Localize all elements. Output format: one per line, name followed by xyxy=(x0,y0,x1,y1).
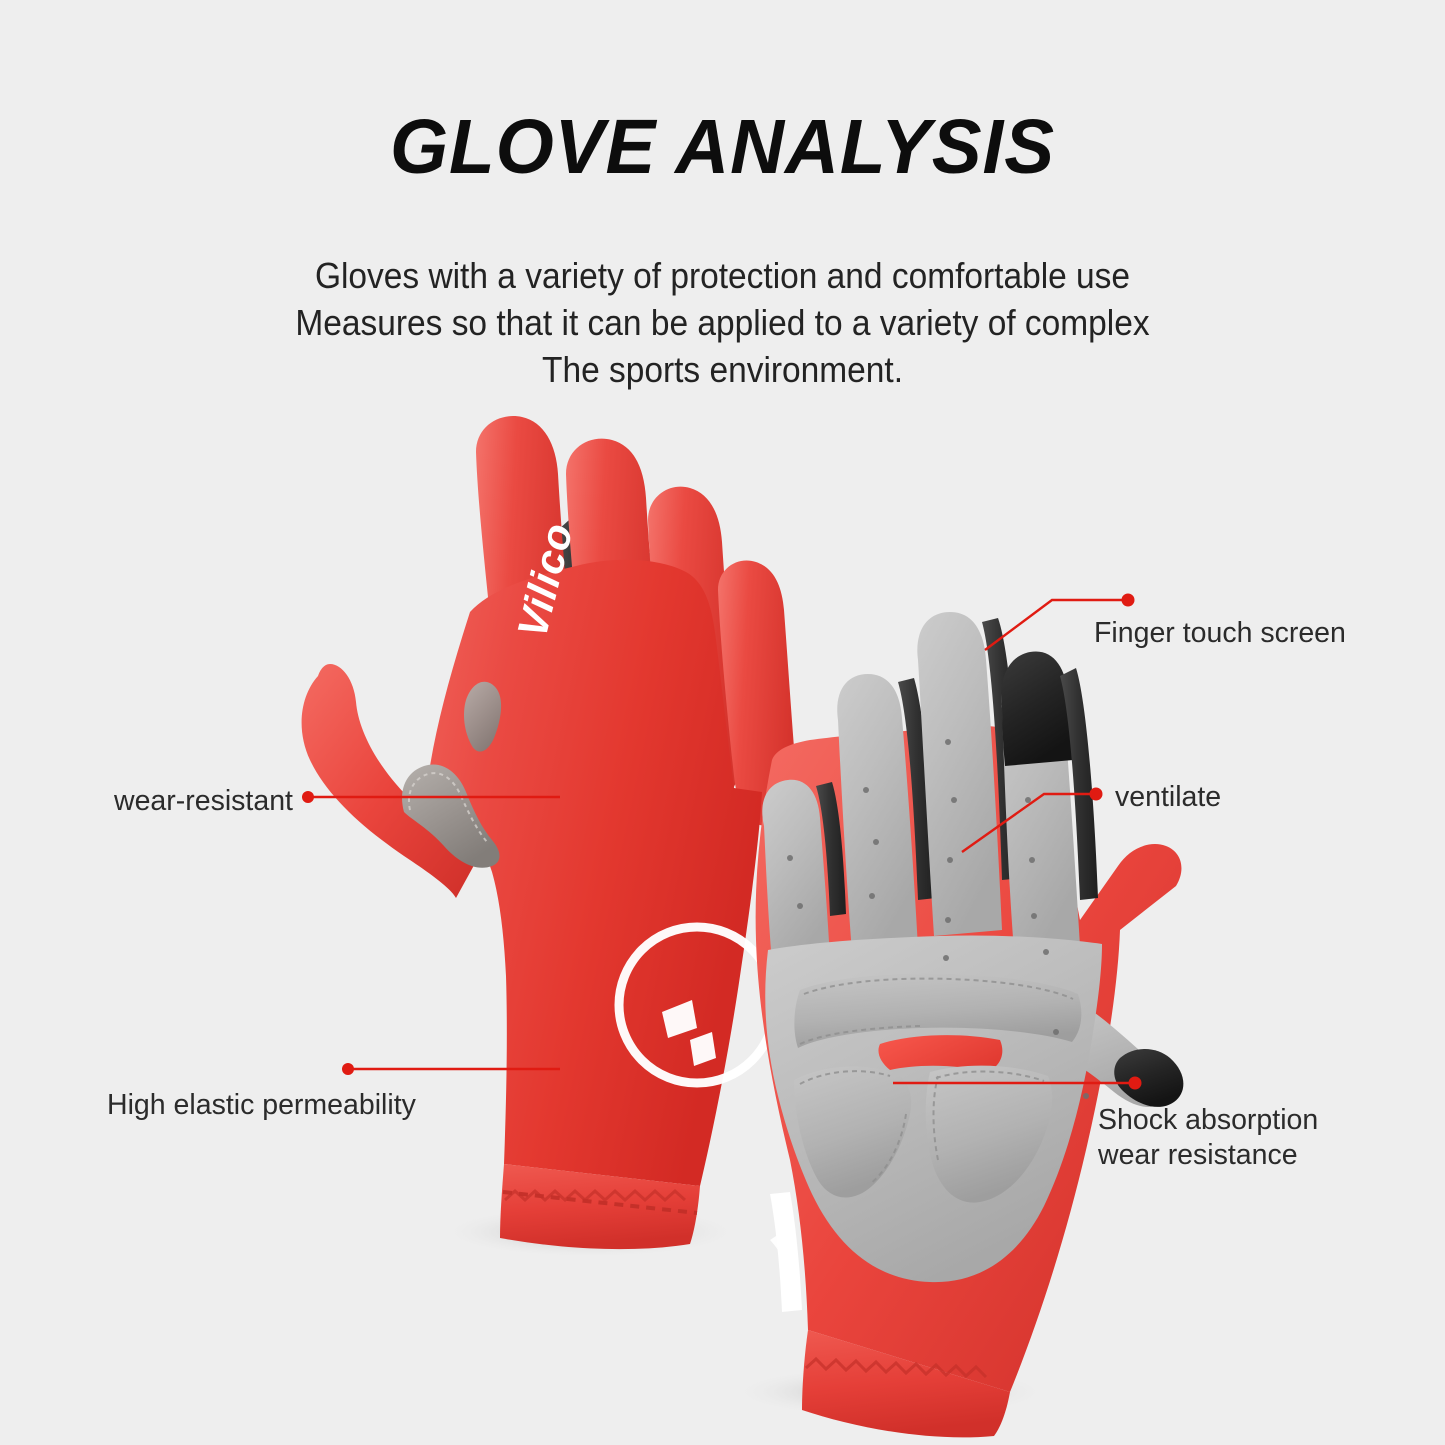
callout-label-ventilate: ventilate xyxy=(1115,780,1221,814)
callout-label-high-elastic-permeability: High elastic permeability xyxy=(107,1088,416,1122)
callout-label-finger-touch-screen: Finger touch screen xyxy=(1094,616,1346,650)
page-subtitle: Gloves with a variety of protection and … xyxy=(51,252,1395,393)
page-title: GLOVE ANALYSIS xyxy=(22,103,1424,192)
infographic-canvas: Vilico xyxy=(0,0,1445,1445)
subtitle-line-1: Gloves with a variety of protection and … xyxy=(51,252,1395,299)
callout-label-wear-resistant: wear-resistant xyxy=(114,784,293,818)
right-glove-white-emblem-partial xyxy=(770,1192,802,1312)
right-glove-palm-view xyxy=(756,612,1184,1437)
subtitle-line-2: Measures so that it can be applied to a … xyxy=(51,299,1395,346)
left-glove-hand-body xyxy=(430,560,762,1186)
left-glove-back-view: Vilico xyxy=(302,416,798,1249)
right-glove-index-touch-tip xyxy=(1001,651,1073,766)
callout-shock-line-2: wear resistance xyxy=(1098,1138,1318,1173)
callout-label-shock-absorption: Shock absorption wear resistance xyxy=(1098,1103,1318,1173)
product-illustration: Vilico xyxy=(0,0,1445,1445)
callout-shock-line-1: Shock absorption xyxy=(1098,1103,1318,1138)
subtitle-line-3: The sports environment. xyxy=(51,346,1395,393)
